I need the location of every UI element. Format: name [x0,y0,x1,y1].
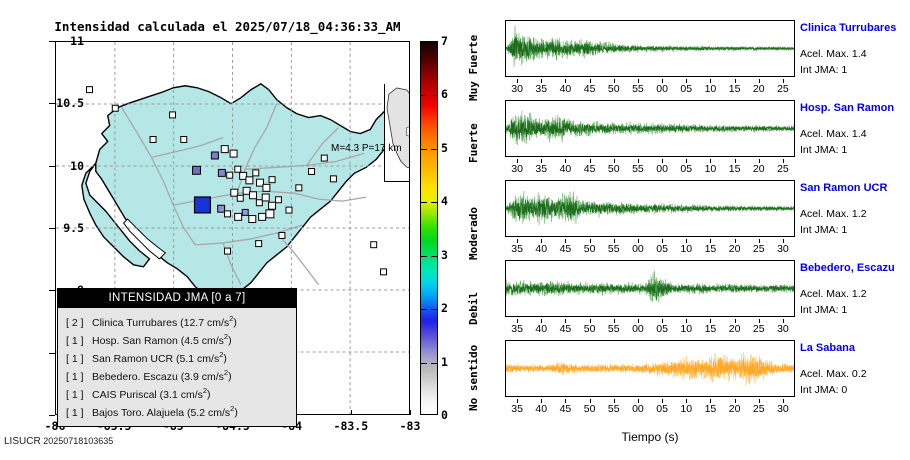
time-tick-label: 30 [504,83,530,95]
seismogram-time-axis: 354045505500051015202530 [505,319,795,335]
time-tick-label: 10 [673,323,699,335]
time-tick-label: 40 [528,403,554,415]
jma-intensity-label: Int JMA: 1 [800,304,910,316]
time-tick-label: 45 [552,403,578,415]
magnitude-depth-label: M=4.3 P=17 km [331,143,402,154]
time-tick-label: 35 [528,83,554,95]
time-tick-label: 20 [746,163,772,175]
station-name-label[interactable]: Hosp. San Ramon [800,102,910,114]
time-tick-label: 50 [601,83,627,95]
station-marker[interactable] [259,213,266,220]
colorbar-category-label: Fuerte [467,123,480,163]
time-tick-label: 25 [746,243,772,255]
time-tick-label: 55 [625,83,651,95]
station-marker[interactable] [263,184,270,191]
max-acceleration-label: Acel. Max. 1.4 [800,128,910,140]
time-tick-label: 45 [552,243,578,255]
seismogram-trace-plot[interactable] [505,340,795,397]
intensity-colorbar [420,41,438,415]
seismogram-meta: La SabanaAcel. Max. 0.2Int JMA: 0 [800,340,910,396]
time-tick-label: 00 [625,243,651,255]
intensity-legend-title: INTENSIDAD JMA [0 a 7] [58,289,296,308]
time-tick-label: 05 [673,83,699,95]
time-tick-label: 35 [528,163,554,175]
seismogram-time-axis: 354045505500051015202530 [505,239,795,255]
map-xtick-mark [55,410,56,415]
colorbar-tick [421,149,427,150]
time-tick-label: 50 [577,323,603,335]
time-tick-label: 45 [577,163,603,175]
colorbar-tick [431,149,437,150]
colorbar-tick [431,95,437,96]
station-marker[interactable] [381,269,387,275]
colorbar-tick [421,202,427,203]
max-acceleration-label: Acel. Max. 1.2 [800,208,910,220]
colorbar-tick [421,363,427,364]
station-marker[interactable] [246,177,253,184]
unit-suffix: ) [223,353,227,365]
time-tick-label: 30 [770,403,796,415]
time-tick-label: 40 [552,163,578,175]
colorbar-tick [421,309,427,310]
intensity-count: [ 1 ] [66,406,92,421]
colorbar-number: 7 [441,34,448,48]
footer-timestamp: 20250718103635 [43,436,113,446]
map-xtick-mark [351,410,352,415]
station-marker[interactable] [227,172,233,178]
station-marker[interactable] [309,169,315,175]
seismogram-meta: San Ramon UCRAcel. Max. 1.2Int JMA: 1 [800,180,910,236]
map-panel: Intensidad calculada el 2025/07/18_04:36… [0,0,500,460]
time-tick-label: 10 [673,403,699,415]
colorbar-tick [421,95,427,96]
seismogram-time-axis: 303540455055000510152025 [505,79,795,95]
station-marker[interactable] [286,207,292,213]
colorbar-number: 3 [441,248,448,262]
station-marker[interactable] [218,205,225,212]
colorbar-number: 4 [441,194,448,208]
time-tick-label: 05 [649,323,675,335]
footer-stamp: LISUCR 20250718103635 [4,436,113,447]
unit-suffix: ) [207,389,211,401]
time-tick-label: 10 [697,163,723,175]
intensity-count: [ 1 ] [66,352,92,367]
station-marker[interactable] [211,152,218,159]
max-acceleration-label: Acel. Max. 1.2 [800,288,910,300]
unit-suffix: ) [233,317,237,329]
epicenter-inset-map [384,84,410,182]
colorbar-number: 1 [441,355,448,369]
station-marker[interactable] [256,200,262,206]
footer-org: LISUCR [4,436,41,447]
station-marker[interactable] [181,136,187,142]
time-axis-label: Tiempo (s) [505,430,795,444]
station-marker[interactable] [235,213,242,220]
time-tick-label: 15 [697,323,723,335]
time-tick-label: 25 [770,163,796,175]
time-tick-label: 35 [504,403,530,415]
jma-intensity-label: Int JMA: 1 [800,224,910,236]
max-acceleration-label: Acel. Max. 0.2 [800,368,910,380]
station-marker-primary[interactable] [195,197,211,213]
time-tick-label: 05 [649,243,675,255]
station-marker[interactable] [235,166,241,172]
time-tick-label: 20 [746,83,772,95]
intensity-legend-row: [ 1 ]Bebedero. Escazu (3.9 cm/s2) [66,366,296,384]
time-tick-label: 20 [722,323,748,335]
time-tick-label: 30 [504,163,530,175]
station-marker[interactable] [249,216,256,223]
seismogram-meta: Bebedero, EscazuAcel. Max. 1.2Int JMA: 1 [800,260,910,316]
station-marker[interactable] [269,177,275,183]
station-marker[interactable] [193,166,201,174]
time-tick-label: 25 [746,323,772,335]
intensity-legend-row: [ 1 ]CAIS Puriscal (3.1 cm/s2) [66,384,296,402]
intensity-legend-row: [ 2 ]Clinica Turrubares (12.7 cm/s2) [66,312,296,330]
station-marker[interactable] [269,202,276,209]
unit-suffix: ) [228,335,232,347]
intensity-station-name: CAIS Puriscal (3.1 cm/s [92,388,203,403]
intensity-legend: INTENSIDAD JMA [0 a 7] [ 2 ]Clinica Turr… [57,288,297,427]
time-tick-label: 15 [697,403,723,415]
time-tick-label: 30 [770,243,796,255]
map-ytick-mark [49,41,55,42]
station-marker[interactable] [296,185,302,191]
map-xtick-mark [410,410,411,415]
time-tick-label: 55 [601,243,627,255]
map-ytick-mark [49,103,55,104]
colorbar-tick [431,363,437,364]
map-xtick-label: -83.5 [321,419,381,433]
station-marker[interactable] [242,209,248,215]
station-marker[interactable] [225,248,231,254]
jma-intensity-label: Int JMA: 1 [800,144,910,156]
unit-suffix: ) [228,371,232,383]
time-tick-label: 00 [625,403,651,415]
map-xtick-label: -83 [380,419,440,433]
intensity-count: [ 1 ] [66,334,92,349]
colorbar-tick [421,256,427,257]
time-tick-label: 50 [577,243,603,255]
station-marker[interactable] [371,242,377,248]
map-ytick-label: 10 [38,159,84,173]
intensity-station-name: Clinica Turrubares (12.7 cm/s [92,316,229,331]
colorbar-category-label: Muy Fuerte [467,34,480,100]
time-tick-label: 50 [577,403,603,415]
station-marker[interactable] [218,169,225,176]
colorbar-category-label: Debil [467,292,480,325]
time-tick-label: 40 [552,83,578,95]
time-tick-label: 10 [697,83,723,95]
station-marker[interactable] [321,155,327,161]
station-marker[interactable] [87,87,93,93]
intensity-station-name: Bajos Toro. Alajuela (5.2 cm/s [92,406,230,421]
map-ytick-mark [49,290,55,291]
jma-intensity-label: Int JMA: 1 [800,64,910,76]
page-title: Intensidad calculada el 2025/07/18_04:36… [0,19,455,34]
seismogram-meta: Hosp. San RamonAcel. Max. 1.4Int JMA: 1 [800,100,910,156]
time-tick-label: 30 [770,323,796,335]
intensity-legend-row: [ 1 ]Bajos Toro. Alajuela (5.2 cm/s2) [66,402,296,420]
time-tick-label: 15 [722,163,748,175]
max-acceleration-label: Acel. Max. 1.4 [800,48,910,60]
time-tick-label: 15 [697,243,723,255]
map-ytick-mark [49,228,55,229]
colorbar-category-label: Moderado [467,207,480,260]
unit-suffix: ) [234,407,238,419]
map-ytick-label: 11 [38,34,84,48]
time-tick-label: 10 [673,243,699,255]
station-marker[interactable] [253,170,259,176]
map-ytick-mark [49,415,55,416]
station-marker[interactable] [231,189,238,196]
station-marker[interactable] [279,232,285,238]
seismogram-trace-plot[interactable] [505,20,795,77]
colorbar-category-label: No sentido [467,344,480,410]
time-tick-label: 20 [722,403,748,415]
station-marker[interactable] [256,241,262,247]
colorbar-tick [431,202,437,203]
seismogram-trace-plot[interactable] [505,180,795,237]
station-name-label[interactable]: La Sabana [800,342,910,354]
time-tick-label: 40 [528,323,554,335]
colorbar-number: 5 [441,141,448,155]
map-ytick-label: 9.5 [38,221,84,235]
seismogram-panel: 303540455055000510152025Clinica Turrubar… [500,0,910,460]
time-tick-label: 55 [601,403,627,415]
time-tick-label: 00 [625,323,651,335]
time-tick-label: 55 [601,323,627,335]
station-marker[interactable] [221,146,228,153]
intensity-count: [ 2 ] [66,316,92,331]
seismic-intensity-report: Intensidad calculada el 2025/07/18_04:36… [0,0,910,460]
time-tick-label: 45 [577,83,603,95]
station-marker[interactable] [225,211,231,217]
intensity-station-name: Hosp. San Ramon (4.5 cm/s [92,334,224,349]
station-marker[interactable] [330,176,336,182]
time-tick-label: 25 [746,403,772,415]
map-ytick-mark [49,166,55,167]
time-tick-label: 35 [504,243,530,255]
time-tick-label: 05 [649,403,675,415]
colorbar-number: 2 [441,301,448,315]
map-ytick-label: 10.5 [38,96,84,110]
time-tick-label: 05 [673,163,699,175]
time-tick-label: 00 [649,163,675,175]
time-tick-label: 25 [770,83,796,95]
time-tick-label: 50 [601,163,627,175]
seismogram-trace-plot[interactable] [505,100,795,157]
intensity-station-name: San Ramon UCR (5.1 cm/s [92,352,219,367]
seismogram-meta: Clinica TurrubaresAcel. Max. 1.4Int JMA:… [800,20,910,76]
station-marker[interactable] [230,150,237,157]
time-tick-label: 45 [552,323,578,335]
station-marker[interactable] [112,105,118,111]
time-tick-label: 40 [528,243,554,255]
intensity-station-name: Bebedero. Escazu (3.9 cm/s [92,370,224,385]
colorbar-number: 6 [441,87,448,101]
seismogram-time-axis: 354045505500051015202530 [505,399,795,415]
seismogram-trace-plot[interactable] [505,260,795,317]
station-marker[interactable] [150,136,156,142]
time-tick-label: 55 [625,163,651,175]
time-tick-label: 00 [649,83,675,95]
station-name-label[interactable]: San Ramon UCR [800,182,910,194]
station-name-label[interactable]: Bebedero, Escazu [800,262,910,274]
colorbar-number: 0 [441,408,448,422]
station-marker[interactable] [262,194,269,201]
map-ytick-mark [49,353,55,354]
intensity-legend-row: [ 1 ]Hosp. San Ramon (4.5 cm/s2) [66,330,296,348]
station-marker[interactable] [275,197,281,203]
time-tick-label: 15 [722,83,748,95]
colorbar-gradient [420,41,438,415]
intensity-count: [ 1 ] [66,388,92,403]
station-marker[interactable] [250,192,257,199]
intensity-legend-row: [ 1 ]San Ramon UCR (5.1 cm/s2) [66,348,296,366]
intensity-legend-rows: [ 2 ]Clinica Turrubares (12.7 cm/s2)[ 1 … [58,308,296,426]
station-marker[interactable] [266,210,274,218]
jma-intensity-label: Int JMA: 0 [800,384,910,396]
station-marker[interactable] [237,195,243,201]
time-tick-label: 20 [722,243,748,255]
time-tick-label: 35 [504,323,530,335]
station-marker[interactable] [170,112,176,118]
intensity-count: [ 1 ] [66,370,92,385]
colorbar-tick [431,309,437,310]
colorbar-tick [431,256,437,257]
seismogram-time-axis: 303540455055000510152025 [505,159,795,175]
station-name-label[interactable]: Clinica Turrubares [800,22,910,34]
